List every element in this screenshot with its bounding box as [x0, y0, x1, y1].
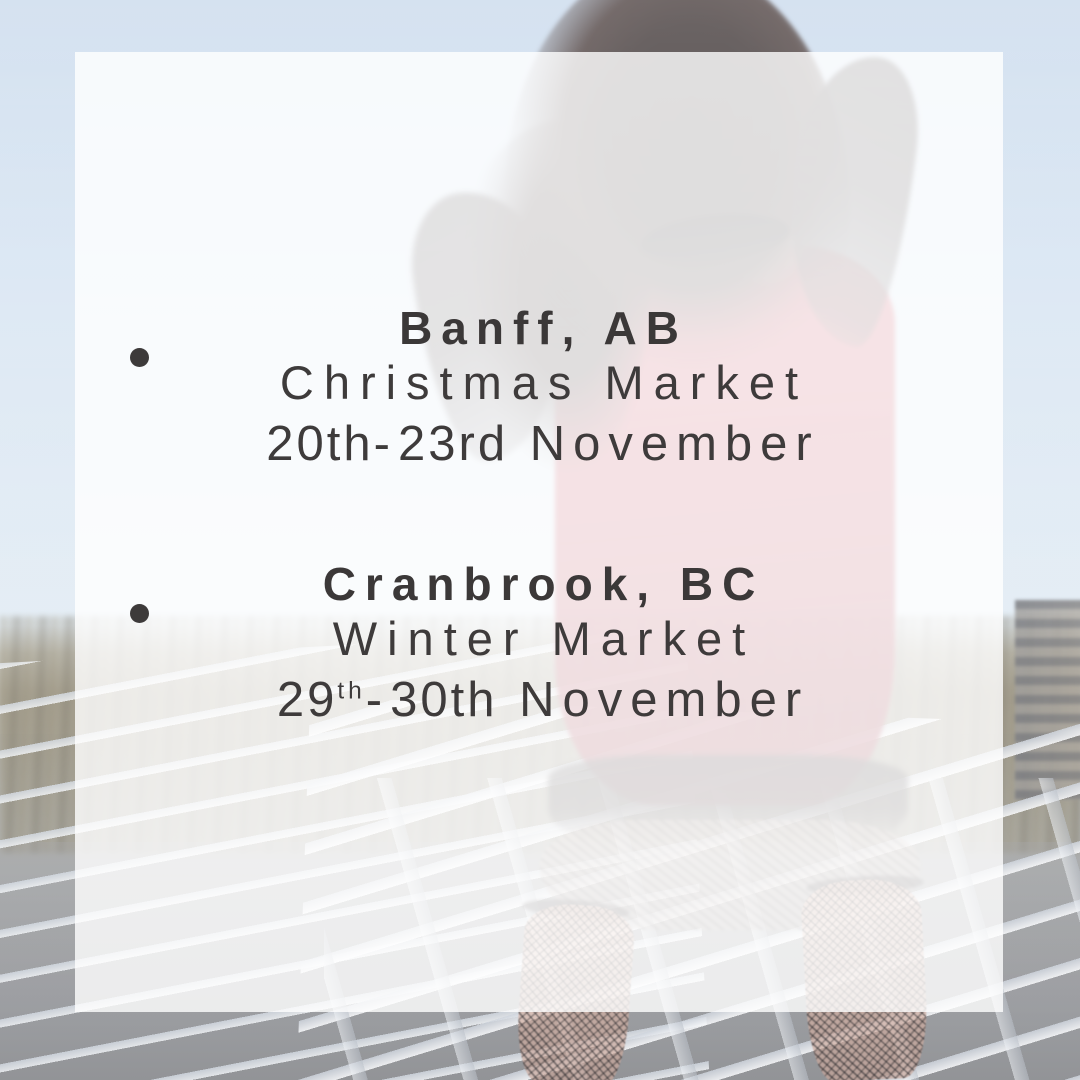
event-subtitle: Winter Market [75, 608, 1003, 670]
bullet-point-icon [130, 348, 149, 367]
event-month: November [530, 417, 820, 471]
bullet-point-icon [130, 604, 149, 623]
event-date: 20th-23rd November [75, 414, 1003, 475]
event-date-dash: - [374, 417, 398, 471]
event-start-day: 20 [266, 417, 327, 471]
event-title: Banff, AB [75, 304, 1003, 352]
promo-canvas: Banff, AB Christmas Market 20th-23rd Nov… [0, 0, 1080, 1080]
event-month: November [519, 673, 809, 727]
event-list: Banff, AB Christmas Market 20th-23rd Nov… [75, 52, 1003, 1012]
event-end-suffix: rd [459, 417, 509, 471]
event-start-suffix: th [327, 417, 374, 471]
event-start-suffix: th [337, 678, 365, 705]
event-end-day: 30 [390, 673, 451, 727]
event-date-dash: - [366, 673, 390, 727]
event-title: Cranbrook, BC [75, 560, 1003, 608]
event-item-banff: Banff, AB Christmas Market 20th-23rd Nov… [75, 304, 1003, 475]
event-end-suffix: th [451, 673, 498, 727]
event-date: 29th-30th November [75, 670, 1003, 731]
event-start-day: 29 [277, 673, 338, 727]
event-item-cranbrook: Cranbrook, BC Winter Market 29th-30th No… [75, 560, 1003, 731]
event-subtitle: Christmas Market [75, 352, 1003, 414]
event-end-day: 23 [398, 417, 459, 471]
